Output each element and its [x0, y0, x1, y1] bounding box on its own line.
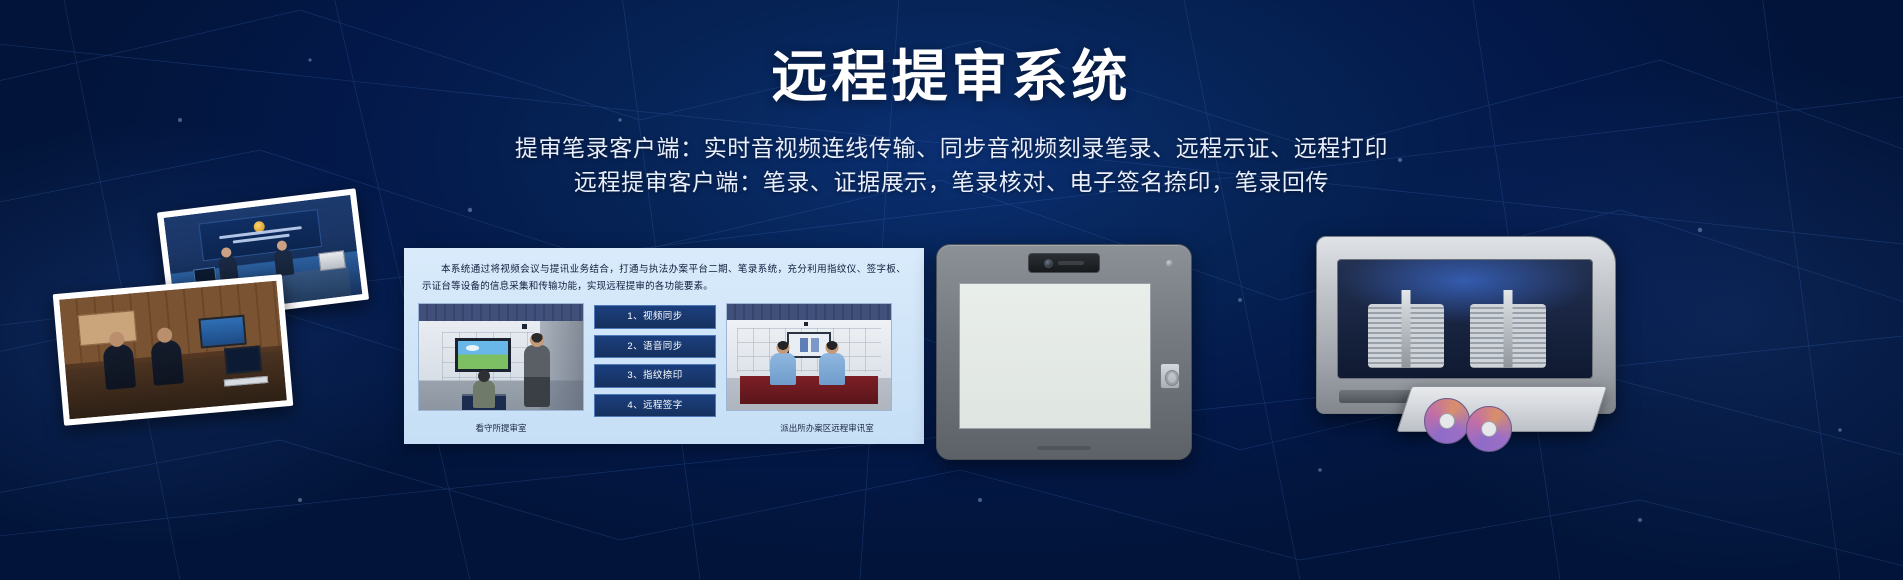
photo-office: [53, 274, 294, 426]
person-figure: [103, 343, 137, 389]
brochure-panel: 本系统通过将视频会议与提讯业务结合，打通与执法办案平台二期、笔录系统，充分利用指…: [404, 248, 924, 444]
wall-camera-icon: [522, 324, 527, 329]
disc-spindle: [1470, 290, 1546, 368]
disc-spindle: [1368, 290, 1444, 368]
hero-banner: 远程提审系统 提审笔录客户端：实时音视频连线传输、同步音视频刻录笔录、远程示证、…: [0, 0, 1903, 580]
monitor-icon: [224, 345, 262, 374]
brochure-body: 1、视频同步 2、语音同步 3、指纹捺印 4、远程签字: [404, 295, 924, 417]
subtitle-block: 提审笔录客户端：实时音视频连线传输、同步音视频刻录笔录、远程示证、远程打印 远程…: [0, 131, 1903, 199]
disc-icon: [1424, 398, 1470, 444]
room-top-band: [419, 304, 583, 321]
printer-window: [1337, 259, 1593, 379]
photo-collage: [50, 196, 380, 436]
scene-police-station-remote-room: [726, 303, 892, 411]
person-figure: [524, 345, 550, 407]
subtitle-line-1: 提审笔录客户端：实时音视频连线传输、同步音视频刻录笔录、远程示证、远程打印: [0, 131, 1903, 165]
scene-detention-interrogation-room: [418, 303, 584, 411]
feature-item-fingerprint[interactable]: 3、指纹捺印: [594, 364, 716, 388]
brochure-captions: 看守所提审室 派出所办案区远程审讯室: [404, 417, 924, 434]
spindle-post: [1402, 290, 1411, 368]
tablet-device: [936, 244, 1192, 460]
courtroom-sign: [198, 209, 322, 261]
speaker-slit-icon: [1058, 261, 1084, 265]
feature-button-list: 1、视频同步 2、语音同步 3、指纹捺印 4、远程签字: [594, 303, 716, 417]
feature-item-audio-sync[interactable]: 2、语音同步: [594, 335, 716, 359]
page-title: 远程提审系统: [0, 46, 1903, 109]
person-figure: [770, 353, 796, 385]
photo-office-inner: [59, 281, 287, 420]
subtitle-line-2: 远程提审客户端：笔录、证据展示，笔录核对、电子签名捺印，笔录回传: [0, 165, 1903, 199]
interrogation-counter: [740, 376, 878, 404]
feature-item-video-sync[interactable]: 1、视频同步: [594, 305, 716, 329]
person-figure: [819, 353, 845, 385]
status-led-icon: [1166, 260, 1173, 267]
disc-icon: [1466, 406, 1512, 452]
brochure-paragraph: 本系统通过将视频会议与提讯业务结合，打通与执法办案平台二期、笔录系统，充分利用指…: [404, 248, 924, 295]
feature-item-remote-signature[interactable]: 4、远程签字: [594, 394, 716, 418]
person-figure: [274, 248, 295, 276]
person-figure: [150, 339, 184, 385]
fingerprint-icon: [1160, 363, 1180, 389]
printer-icon: [318, 250, 346, 271]
spindle-post: [1504, 290, 1513, 368]
caption-left: 看守所提审室: [418, 422, 584, 434]
display-screen: [455, 338, 511, 372]
office-scene: [59, 281, 287, 420]
wall-screen: [199, 315, 247, 349]
wall-panel: [78, 310, 137, 346]
headings-block: 远程提审系统 提审笔录客户端：实时音视频连线传输、同步音视频刻录笔录、远程示证、…: [0, 46, 1903, 199]
tablet-screen: [959, 283, 1151, 429]
wall-camera-icon: [804, 322, 808, 326]
disc-printer-device: [1316, 236, 1646, 448]
caption-right: 派出所办案区远程审讯室: [744, 422, 910, 434]
person-figure: [473, 380, 495, 408]
camera-lens-icon: [1044, 259, 1053, 268]
tablet-bottom-notch: [1037, 446, 1091, 450]
room-top-band: [727, 304, 891, 320]
camera-icon: [1028, 253, 1100, 273]
